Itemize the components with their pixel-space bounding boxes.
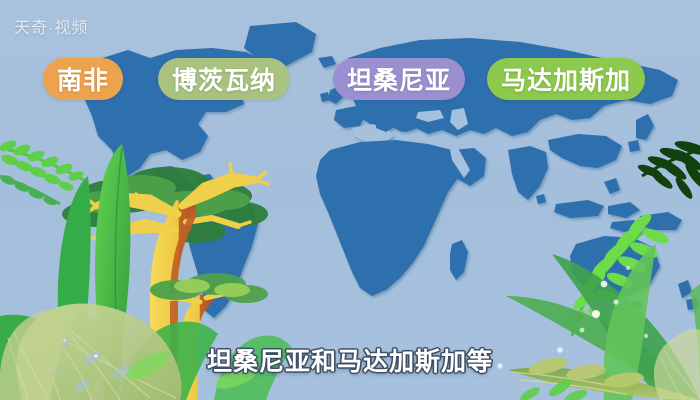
country-chip-row: 南非 博茨瓦纳 坦桑尼亚 马达加斯加 [0,58,700,104]
chip-south-africa[interactable]: 南非 [43,58,123,100]
chip-label: 坦桑尼亚 [347,61,451,97]
chip-madagascar[interactable]: 马达加斯加 [487,58,645,100]
chip-botswana[interactable]: 博茨瓦纳 [158,58,290,100]
video-frame: 天奇·视频 南非 博茨瓦纳 坦桑尼亚 马达加斯加 坦桑尼亚和马达加斯加等 [0,0,700,400]
watermark: 天奇·视频 [14,14,88,38]
palm-frond-dark [636,138,700,201]
chip-label: 南非 [57,61,109,97]
chip-label: 博茨瓦纳 [172,61,276,97]
subtitle-caption: 坦桑尼亚和马达加斯加等 [0,342,700,378]
chip-label: 马达加斯加 [501,61,631,97]
chip-tanzania[interactable]: 坦桑尼亚 [333,58,465,100]
